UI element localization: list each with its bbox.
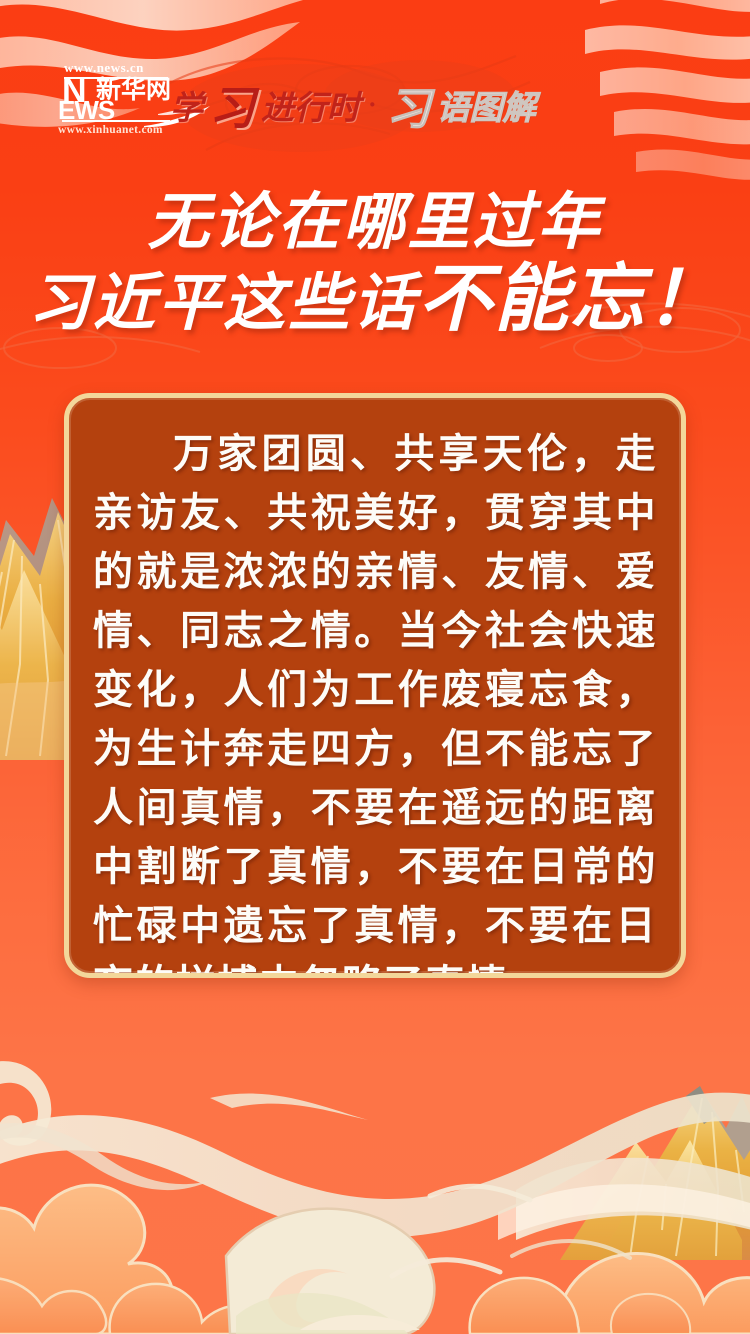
title-line-1: 无论在哪里过年: [0, 186, 750, 260]
column-tagline[interactable]: 学 习 进行时 · 习 语图解: [170, 72, 536, 138]
tagline-separator-dot: ·: [364, 90, 381, 120]
quote-card: 万家团圆、共享天伦，走亲访友、共祝美好，贯穿其中的就是浓浓的亲情、友情、爱情、同…: [64, 393, 686, 978]
logo-divider-bottom: [62, 120, 170, 122]
xinhua-logo[interactable]: www.news.cn N 新华网 EWS www.xinhuanet.com: [34, 62, 174, 140]
gold-mountain-range: [498, 1086, 750, 1260]
title-line-2-a: 习近平这些话: [28, 270, 418, 338]
quote-card-inner: 万家团圆、共享天伦，走亲访友、共祝美好，贯穿其中的就是浓浓的亲情、友情、爱情、同…: [69, 398, 681, 973]
quote-text: 万家团圆、共享天伦，走亲访友、共祝美好，贯穿其中的就是浓浓的亲情、友情、爱情、同…: [93, 424, 657, 973]
page-title: 无论在哪里过年 习近平这些话不能忘！: [0, 186, 750, 344]
auspicious-cloud-cluster-left: [0, 1185, 326, 1334]
auspicious-cloud-cluster-right: [470, 1254, 750, 1334]
tagline-xi-calligraphy-2: 习: [387, 73, 431, 137]
tagline-part3: 语图解: [437, 81, 536, 129]
mist-ribbon: [0, 1093, 750, 1238]
logo-letters-news: EWS: [58, 98, 114, 122]
tagline-part1: 学: [170, 81, 203, 129]
title-line-2: 习近平这些话不能忘！: [0, 260, 750, 344]
header-bar: www.news.cn N 新华网 EWS www.xinhuanet.com …: [0, 0, 750, 160]
tagline-part2: 进行时: [261, 81, 360, 129]
tagline-xi-calligraphy: 习: [209, 72, 255, 138]
poster-root: www.news.cn N 新华网 EWS www.xinhuanet.com …: [0, 0, 750, 1334]
title-line-2-b: 不能忘！: [418, 259, 722, 341]
logo-url-bottom-text: www.xinhuanet.com: [58, 124, 163, 136]
cloud-swirl-middle: [226, 1209, 434, 1334]
